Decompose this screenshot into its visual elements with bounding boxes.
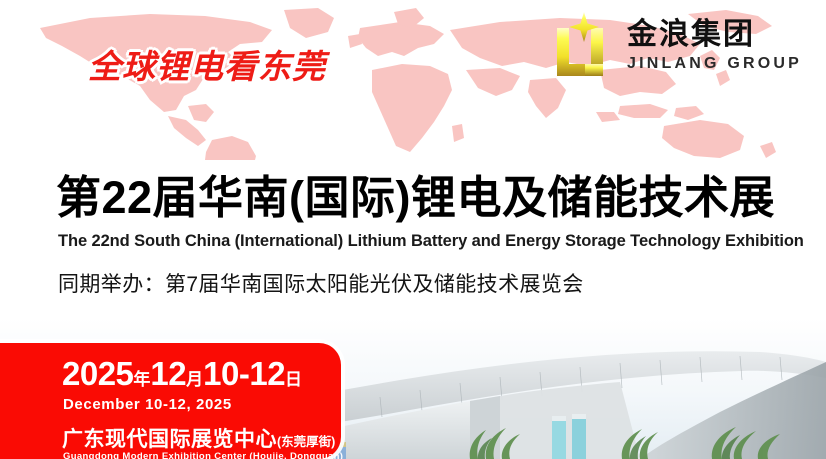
venue-name-en: Guangdong Modern Exhibition Center (Houj…: [63, 451, 343, 459]
date-month-unit: 月: [186, 370, 203, 389]
venue-note-label: (东莞厚街): [277, 435, 335, 449]
header-slogan: 全球锂电看东莞: [88, 40, 326, 88]
jinlang-jl-monogram-icon: [551, 12, 617, 84]
brand-text: 金浪集团 JINLANG GROUP: [627, 19, 802, 77]
brand-logo: 金浪集团 JINLANG GROUP: [551, 12, 802, 84]
date-day-unit: 日: [285, 370, 302, 389]
page-title: 第22届华南(国际)锂电及储能技术展: [56, 172, 775, 224]
date-month: 12: [150, 355, 186, 392]
brand-name-cn: 金浪集团: [627, 19, 802, 51]
exhibition-poster: 全球锂电看东莞: [0, 0, 826, 459]
event-date-en: December 10-12, 2025: [63, 396, 232, 413]
brand-name-en: JINLANG GROUP: [627, 54, 802, 75]
date-year: 2025: [62, 355, 133, 392]
date-days: 10-12: [203, 355, 285, 392]
venue-main-label: 广东现代国际展览中心: [62, 428, 277, 451]
concurrent-event-line: 同期举办：第7届华南国际太阳能光伏及储能技术展览会: [58, 268, 584, 298]
date-year-unit: 年: [133, 370, 150, 389]
date-venue-banner: 2025年12月10-12日 December 10-12, 2025 广东现代…: [0, 343, 341, 459]
event-date-cn: 2025年12月10-12日: [62, 355, 302, 393]
venue-name-cn: 广东现代国际展览中心(东莞厚街): [62, 423, 335, 453]
header-band: 全球锂电看东莞: [0, 0, 826, 160]
page-subtitle-en: The 22nd South China (International) Lit…: [58, 232, 804, 251]
